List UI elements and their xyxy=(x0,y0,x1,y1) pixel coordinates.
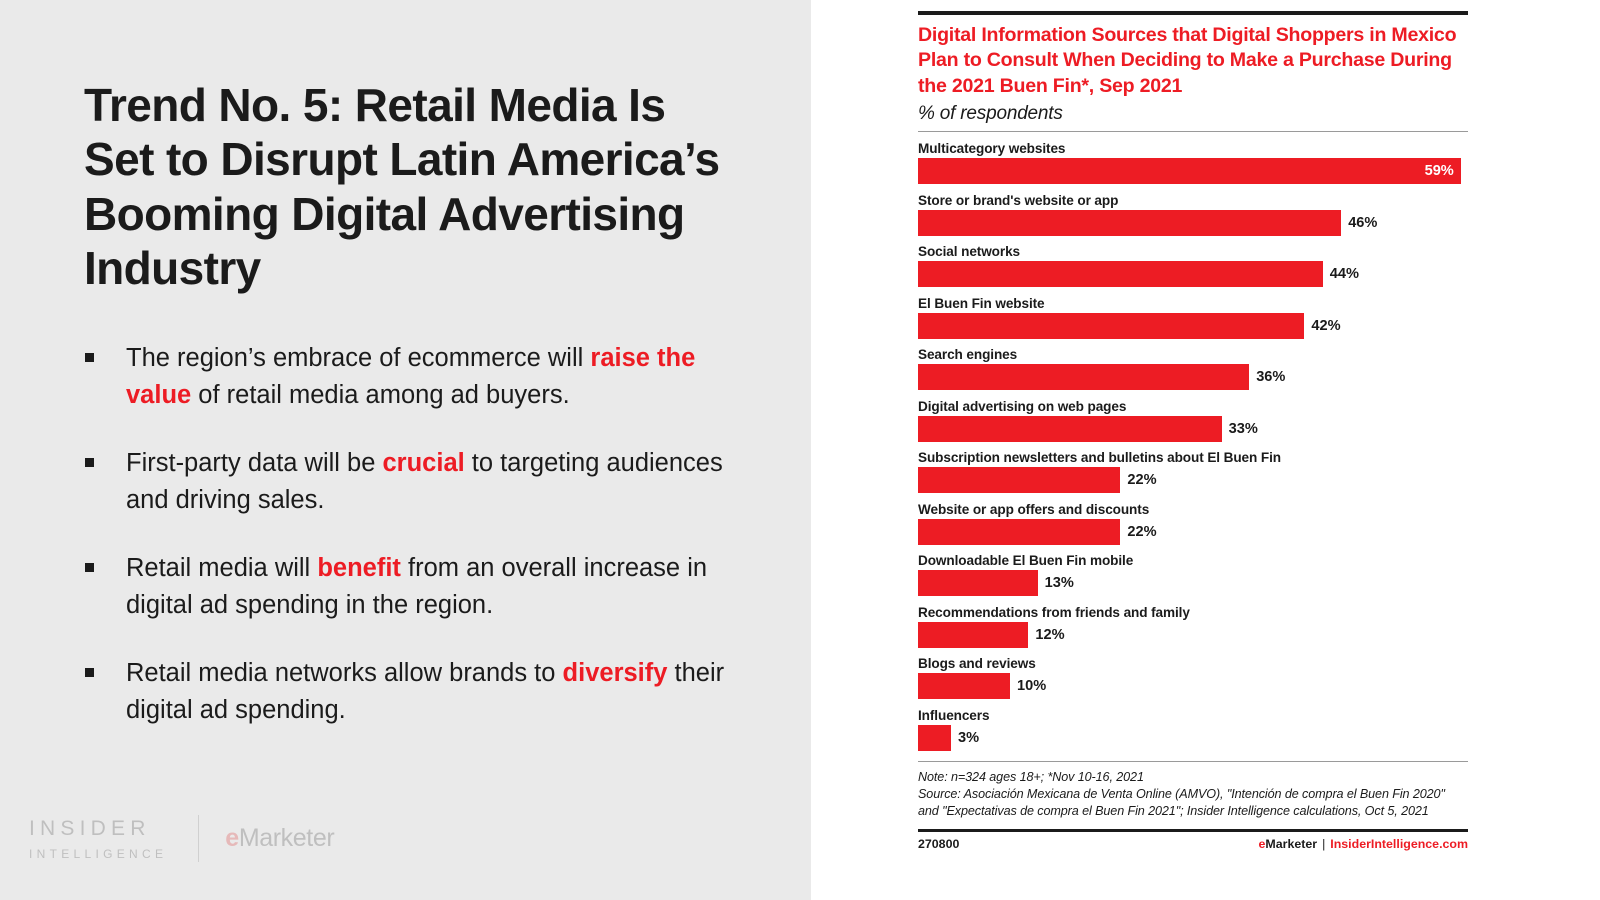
footer-brand: eMarketer|InsiderIntelligence.com xyxy=(1259,837,1469,851)
brand-logo-lockup: INSIDER INTELLIGENCE eMarketer xyxy=(29,815,334,862)
bar-track: 12% xyxy=(918,622,1468,648)
bar-fill: 59% xyxy=(918,158,1461,184)
bar-row: Influencers3% xyxy=(918,708,1468,751)
insider-intelligence-logo: INSIDER INTELLIGENCE xyxy=(29,817,167,861)
bullet-highlight-text: benefit xyxy=(317,554,401,582)
chart-header-rule xyxy=(918,131,1468,133)
bar-track: 33% xyxy=(918,416,1468,442)
emarketer-logo-e: e xyxy=(225,824,239,852)
bar-row: Blogs and reviews10% xyxy=(918,656,1468,699)
bullet-marker-icon xyxy=(85,563,94,572)
bar-track: 3% xyxy=(918,725,1468,751)
bar-value-label: 10% xyxy=(1017,678,1046,694)
insider-logo-line2: INTELLIGENCE xyxy=(29,847,167,861)
bar-track: 46% xyxy=(918,210,1468,236)
bar-row: Social networks44% xyxy=(918,244,1468,287)
bullet-highlight-text: diversify xyxy=(563,659,668,687)
bar-value-label: 33% xyxy=(1229,421,1258,437)
chart-top-rule xyxy=(918,11,1468,15)
bar-value-label: 44% xyxy=(1330,266,1359,282)
bar-fill xyxy=(918,313,1304,339)
emarketer-logo: eMarketer xyxy=(225,824,334,853)
chart-footer: 270800 eMarketer|InsiderIntelligence.com xyxy=(918,837,1468,851)
bar-row: Website or app offers and discounts22% xyxy=(918,502,1468,545)
bullet-marker-icon xyxy=(85,668,94,677)
bar-row: Search engines36% xyxy=(918,347,1468,390)
bar-chart: Digital Information Sources that Digital… xyxy=(918,11,1468,851)
left-content-panel: Trend No. 5: Retail Media Is Set to Disr… xyxy=(0,0,811,900)
bullet-marker-icon xyxy=(85,458,94,467)
chart-bottom-rule xyxy=(918,829,1468,833)
bullet-text: Retail media will xyxy=(126,554,317,582)
bullet-text: First-party data will be xyxy=(126,449,383,477)
bar-fill xyxy=(918,261,1323,287)
bar-category-label: Multicategory websites xyxy=(918,141,1468,156)
bar-row: Digital advertising on web pages33% xyxy=(918,399,1468,442)
bar-category-label: Search engines xyxy=(918,347,1468,362)
bullet-list: The region’s embrace of ecommerce will r… xyxy=(84,340,749,760)
logo-divider xyxy=(198,815,199,862)
bar-fill xyxy=(918,467,1120,493)
insider-logo-line1: INSIDER xyxy=(29,817,167,841)
chart-note: Note: n=324 ages 18+; *Nov 10-16, 2021 xyxy=(918,769,1468,786)
bar-value-label: 3% xyxy=(958,730,979,746)
bar-row: El Buen Fin website42% xyxy=(918,296,1468,339)
bar-fill xyxy=(918,416,1222,442)
bullet-text: Retail media networks allow brands to xyxy=(126,659,563,687)
bar-value-label: 22% xyxy=(1127,472,1156,488)
bar-value-label: 59% xyxy=(1425,163,1454,179)
bullet-item: The region’s embrace of ecommerce will r… xyxy=(84,340,749,415)
chart-id: 270800 xyxy=(918,837,959,851)
bar-value-label: 13% xyxy=(1045,575,1074,591)
bullet-item: First-party data will be crucial to targ… xyxy=(84,445,749,520)
bar-row: Downloadable El Buen Fin mobile13% xyxy=(918,553,1468,596)
chart-panel: Digital Information Sources that Digital… xyxy=(811,0,1600,900)
emarketer-logo-rest: Marketer xyxy=(239,824,334,852)
bullet-text: of retail media among ad buyers. xyxy=(191,381,569,409)
chart-source: Source: Asociación Mexicana de Venta Onl… xyxy=(918,786,1468,820)
bar-track: 22% xyxy=(918,519,1468,545)
footer-brand-separator: | xyxy=(1322,837,1325,851)
bar-value-label: 36% xyxy=(1256,369,1285,385)
bar-fill xyxy=(918,673,1010,699)
bar-track: 44% xyxy=(918,261,1468,287)
bar-category-label: Social networks xyxy=(918,244,1468,259)
bar-fill xyxy=(918,364,1249,390)
bar-track: 59% xyxy=(918,158,1468,184)
bar-value-label: 22% xyxy=(1127,524,1156,540)
slide: Trend No. 5: Retail Media Is Set to Disr… xyxy=(0,0,1600,900)
bullet-marker-icon xyxy=(85,353,94,362)
bar-category-label: Recommendations from friends and family xyxy=(918,605,1468,620)
chart-title: Digital Information Sources that Digital… xyxy=(918,23,1468,99)
bar-row: Subscription newsletters and bulletins a… xyxy=(918,450,1468,493)
bullet-highlight-text: crucial xyxy=(383,449,465,477)
bar-track: 36% xyxy=(918,364,1468,390)
bar-fill xyxy=(918,519,1120,545)
footer-brand-name: Marketer xyxy=(1265,837,1317,851)
bar-row: Store or brand's website or app46% xyxy=(918,193,1468,236)
bar-category-label: Subscription newsletters and bulletins a… xyxy=(918,450,1468,465)
bullet-item: Retail media networks allow brands to di… xyxy=(84,655,749,730)
bar-value-label: 12% xyxy=(1035,627,1064,643)
chart-footer-rule xyxy=(918,761,1468,763)
page-title: Trend No. 5: Retail Media Is Set to Disr… xyxy=(84,78,744,295)
bar-track: 13% xyxy=(918,570,1468,596)
bar-row: Multicategory websites59% xyxy=(918,141,1468,184)
bar-category-label: Blogs and reviews xyxy=(918,656,1468,671)
footer-brand-site[interactable]: InsiderIntelligence.com xyxy=(1330,837,1468,851)
bar-value-label: 46% xyxy=(1348,215,1377,231)
bar-track: 10% xyxy=(918,673,1468,699)
bar-category-label: El Buen Fin website xyxy=(918,296,1468,311)
bar-track: 22% xyxy=(918,467,1468,493)
bar-value-label: 42% xyxy=(1311,318,1340,334)
bar-category-label: Downloadable El Buen Fin mobile xyxy=(918,553,1468,568)
bar-fill xyxy=(918,210,1341,236)
bar-category-label: Digital advertising on web pages xyxy=(918,399,1468,414)
bar-fill xyxy=(918,725,951,751)
bullet-item: Retail media will benefit from an overal… xyxy=(84,550,749,625)
bar-fill xyxy=(918,622,1028,648)
bar-category-label: Website or app offers and discounts xyxy=(918,502,1468,517)
chart-subtitle: % of respondents xyxy=(918,103,1468,125)
bar-track: 42% xyxy=(918,313,1468,339)
bar-row: Recommendations from friends and family1… xyxy=(918,605,1468,648)
bullet-text: The region’s embrace of ecommerce will xyxy=(126,344,590,372)
bar-category-label: Influencers xyxy=(918,708,1468,723)
bar-series: Multicategory websites59%Store or brand'… xyxy=(918,141,1468,751)
bar-category-label: Store or brand's website or app xyxy=(918,193,1468,208)
bar-fill xyxy=(918,570,1038,596)
